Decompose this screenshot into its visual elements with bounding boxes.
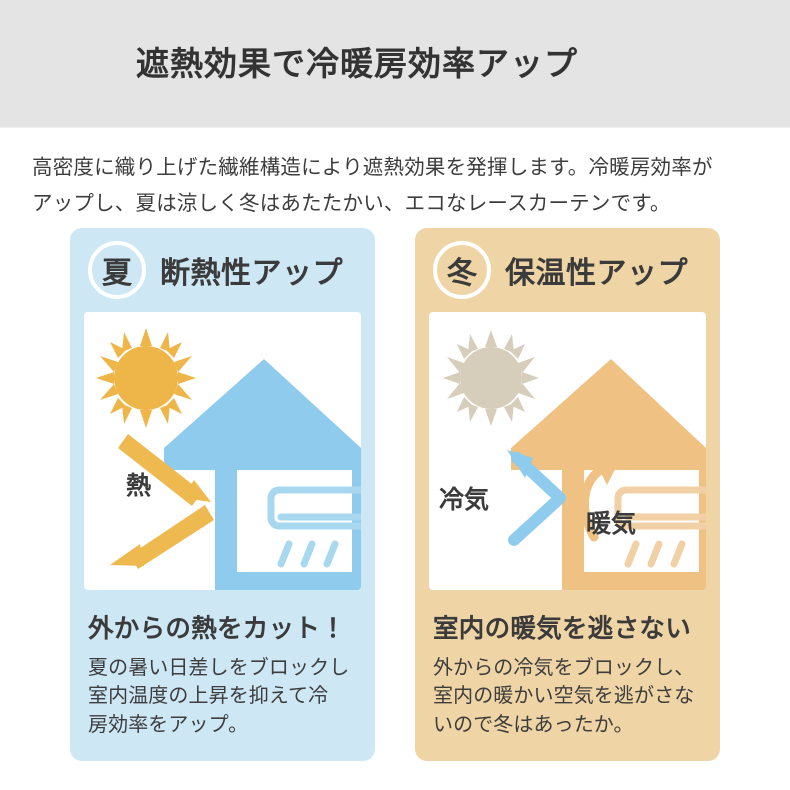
card-winter-footer: 室内の暖気を逃さない 外からの冷気をブロックし、 室内の暖かい空気を逃がさな い… — [415, 590, 720, 761]
season-badge-winter: 冬 — [433, 241, 491, 299]
card-summer-header: 夏 断熱性アップ — [70, 228, 375, 312]
air-flow-icon — [281, 544, 335, 564]
card-winter-footer-line-2: 室内の暖かい空気を逃がさな — [433, 682, 704, 710]
card-summer-heading: 断熱性アップ — [160, 248, 343, 292]
winter-illustration-svg: 冷気 暖気 — [429, 312, 706, 590]
intro-line-2: アップし、夏は涼しく冬はあたたかい、エコなレースカーテンです。 — [32, 186, 756, 222]
card-summer-footer-line-3: 房効率をアップ。 — [88, 711, 359, 739]
card-summer-footer-line-2: 室内温度の上昇を抑えて冷 — [88, 682, 359, 710]
winter-illustration: 冷気 暖気 — [429, 312, 706, 590]
comparison-cards: 夏 断熱性アップ — [70, 228, 720, 761]
summer-illustration: 熱 — [84, 312, 361, 590]
page-banner: 遮熱効果で冷暖房効率アップ — [0, 0, 790, 128]
intro-line-1: 高密度に織り上げた繊維構造により遮熱効果を発揮します。冷暖房効率が — [32, 150, 756, 186]
warm-air-label: 暖気 — [586, 509, 636, 538]
card-winter-footer-heading: 室内の暖気を逃さない — [433, 608, 704, 645]
heat-arrow-reflected — [110, 505, 214, 569]
sun-icon — [443, 330, 539, 426]
card-summer: 夏 断熱性アップ — [70, 228, 375, 761]
season-badge-summer: 夏 — [88, 241, 146, 299]
card-summer-footer: 外からの熱をカット！ 夏の暑い日差しをブロックし 室内温度の上昇を抑えて冷 房効… — [70, 590, 375, 761]
cold-air-label: 冷気 — [439, 485, 489, 514]
summer-illustration-svg: 熱 — [84, 312, 361, 590]
page-title: 遮熱効果で冷暖房効率アップ — [136, 44, 578, 84]
sun-icon — [96, 328, 196, 428]
intro-paragraph: 高密度に織り上げた繊維構造により遮熱効果を発揮します。冷暖房効率が アップし、夏… — [0, 128, 790, 222]
card-winter-heading: 保温性アップ — [505, 248, 688, 292]
card-winter-footer-line-1: 外からの冷気をブロックし、 — [433, 654, 704, 682]
card-winter: 冬 保温性アップ — [415, 228, 720, 761]
card-summer-footer-heading: 外からの熱をカット！ — [88, 608, 359, 645]
card-winter-footer-line-3: いので冬はあったか。 — [433, 711, 704, 739]
air-conditioner-icon — [271, 490, 361, 526]
card-summer-footer-line-1: 夏の暑い日差しをブロックし — [88, 654, 359, 682]
card-winter-header: 冬 保温性アップ — [415, 228, 720, 312]
heat-label: 熱 — [126, 472, 151, 500]
air-flow-icon — [628, 544, 682, 564]
